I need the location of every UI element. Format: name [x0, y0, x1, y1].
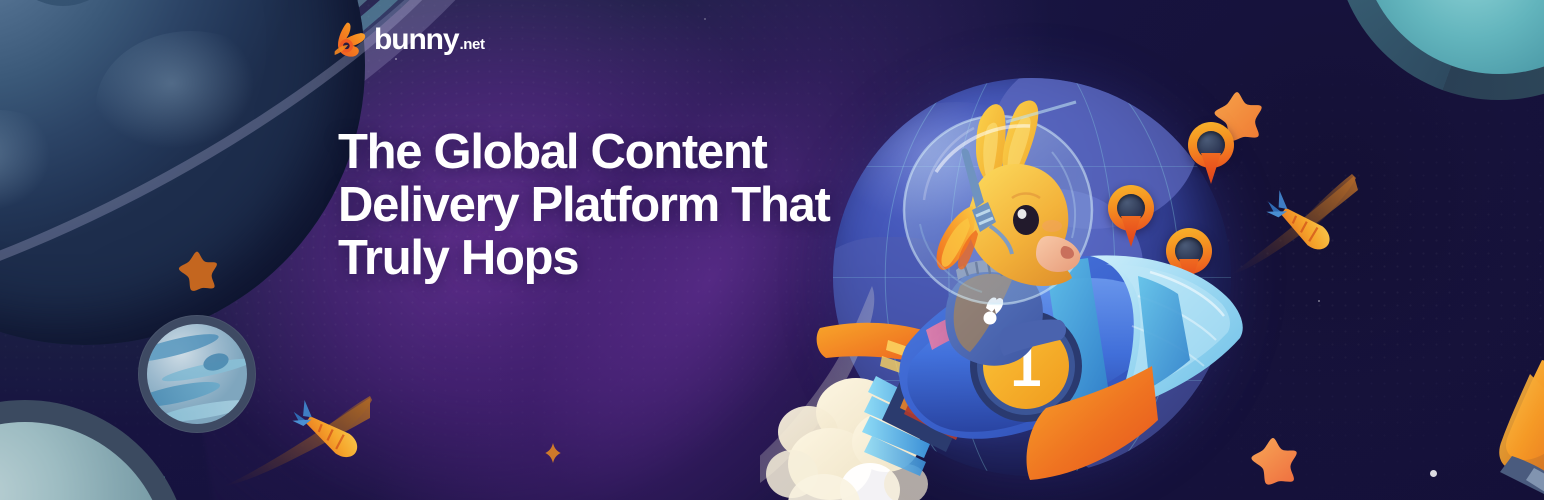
- hero-banner: 1: [0, 0, 1544, 500]
- comet-rocket-left-icon: [220, 386, 380, 490]
- page-title: The Global Content Delivery Platform Tha…: [338, 126, 898, 285]
- brand-logo[interactable]: bunny .net: [328, 18, 485, 62]
- headline-line-2: Delivery Platform That: [338, 179, 898, 232]
- sparkle-diamond-icon: [545, 443, 561, 463]
- partial-ringed-planet: [1334, 0, 1544, 100]
- bunny-eye: [1013, 205, 1039, 235]
- star-orange-small-icon: [176, 250, 218, 292]
- partial-planet-bottom-left: [0, 400, 190, 500]
- comet-rocket-corner-icon: [1434, 344, 1544, 500]
- headline-line-3: Truly Hops: [338, 232, 898, 285]
- headline-line-1: The Global Content: [338, 126, 898, 179]
- ringed-planet-saturn: [0, 0, 365, 345]
- brand-tld: .net: [460, 37, 485, 52]
- bunny-logo-icon: [328, 20, 368, 60]
- brand-wordmark: bunny .net: [374, 25, 485, 55]
- brand-name: bunny: [374, 25, 459, 55]
